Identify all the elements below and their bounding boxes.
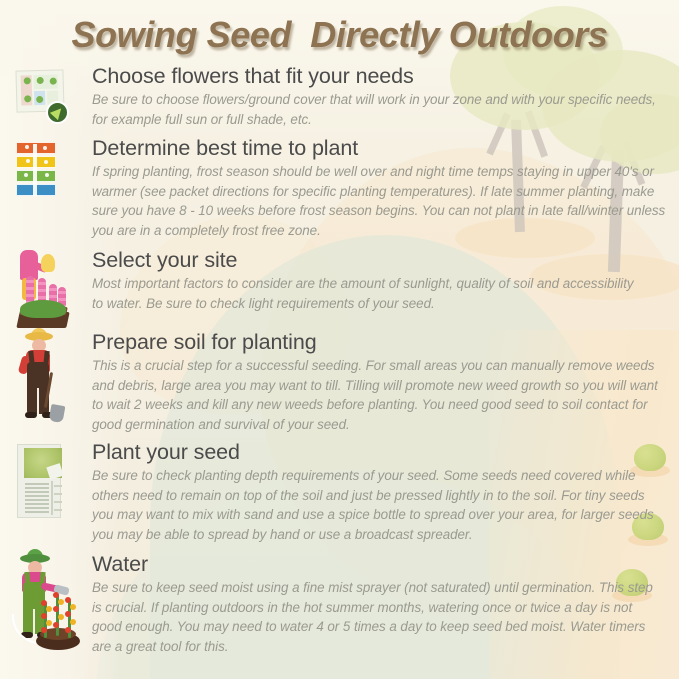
steps-list: Choose flowers that fit your needs Be su… [0,0,679,679]
step-plant-seed: Plant your seed Be sure to check plantin… [14,440,669,544]
step-icon-wrapper [14,330,76,428]
step-body: Most important factors to consider are t… [92,274,634,313]
garden-plan-map-icon [14,70,68,122]
step-prepare-soil: Prepare soil for planting This is a cruc… [14,330,664,434]
step-heading: Select your site [92,248,634,273]
step-text: Plant your seed Be sure to check plantin… [76,440,669,544]
step-body: Be sure to check planting depth requirem… [92,466,669,544]
four-seasons-icon [14,142,60,202]
step-text: Choose flowers that fit your needs Be su… [76,64,664,129]
step-icon-wrapper [14,552,76,650]
step-heading: Water [92,552,664,577]
step-select-site: Select your site Most important factors … [14,248,634,328]
step-choose-flowers: Choose flowers that fit your needs Be su… [14,64,664,129]
step-body: If spring planting, frost season should … [92,162,674,240]
gardener-with-shovel-icon [14,332,68,428]
step-heading: Choose flowers that fit your needs [92,64,664,89]
step-icon-wrapper [14,248,76,328]
compass-icon [46,101,69,124]
step-heading: Determine best time to plant [92,136,674,161]
page-title: Sowing Seed Directly Outdoors [0,14,679,56]
step-heading: Plant your seed [92,440,669,465]
step-text: Water Be sure to keep seed moist using a… [76,552,664,656]
step-text: Prepare soil for planting This is a cruc… [76,330,664,434]
step-text: Select your site Most important factors … [76,248,634,313]
step-water: Water Be sure to keep seed moist using a… [14,552,664,656]
gardener-watering-icon [14,554,80,650]
step-body: This is a crucial step for a successful … [92,356,664,434]
step-body: Be sure to choose flowers/ground cover t… [92,90,664,129]
step-icon-wrapper [14,440,76,522]
step-icon-wrapper [14,64,76,122]
foxglove-planter-icon [14,250,72,328]
infographic-poster: Sowing Seed Directly Outdoors [0,0,679,679]
step-icon-wrapper [14,136,76,202]
step-heading: Prepare soil for planting [92,330,664,355]
step-body: Be sure to keep seed moist using a fine … [92,578,664,656]
seed-packet-icon [14,444,66,522]
step-determine-time: Determine best time to plant If spring p… [14,136,674,240]
step-text: Determine best time to plant If spring p… [76,136,674,240]
